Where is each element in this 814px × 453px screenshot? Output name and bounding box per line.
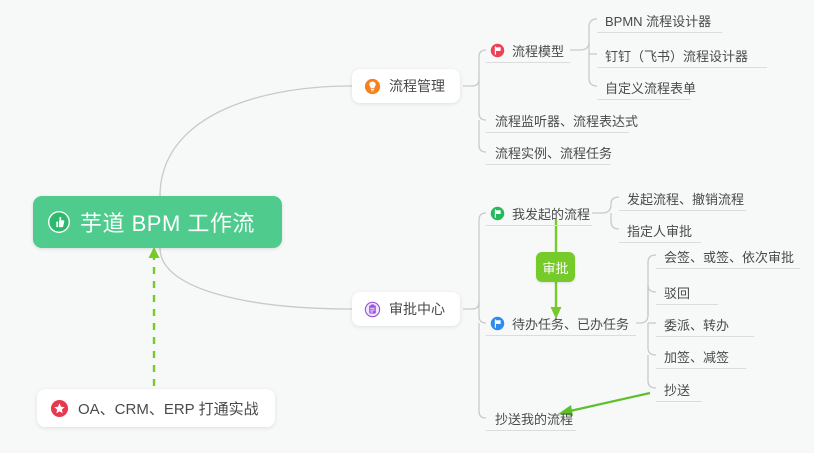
label-my-initiated: 我发起的流程 xyxy=(512,204,590,223)
leaf-add-remove-sign[interactable]: 加签、减签 xyxy=(658,344,737,368)
leaf-label-delegate-transfer: 委派、转办 xyxy=(664,315,729,334)
link-root-to-process-management xyxy=(160,86,352,196)
thumbs-up-icon xyxy=(47,210,71,234)
leaf-label-cc: 抄送 xyxy=(664,380,690,399)
underline-process-instance xyxy=(486,164,610,165)
leaf-assignee-approval[interactable]: 指定人审批 xyxy=(621,218,700,242)
underline-custom-form xyxy=(597,99,690,100)
underline-cc-to-me xyxy=(486,430,576,431)
label-cc-to-me: 抄送我的流程 xyxy=(495,409,573,428)
leaf-start-cancel-process[interactable]: 发起流程、撤销流程 xyxy=(621,186,752,210)
underline-add-remove-sign xyxy=(656,368,746,369)
clipboard-icon xyxy=(364,301,381,318)
underline-reject xyxy=(656,304,718,305)
leaf-label-bpmn-designer: BPMN 流程设计器 xyxy=(605,11,711,30)
mindmap-canvas: 芋道 BPM 工作流 流程管理 流程模型 BPMN 流程设计器 xyxy=(0,0,814,453)
link-pm-to-process-model xyxy=(463,50,486,86)
flag-icon-red xyxy=(490,43,505,58)
link-model-to-bpmn xyxy=(570,19,597,50)
underline-dingtalk-designer xyxy=(597,67,767,68)
node-process-model[interactable]: 流程模型 xyxy=(488,38,570,62)
node-process-listener[interactable]: 流程监听器、流程表达式 xyxy=(489,108,646,132)
link-ac-to-my-initiated xyxy=(463,213,486,309)
label-todo-done-tasks: 待办任务、已办任务 xyxy=(512,314,629,333)
link-root-to-approval-center xyxy=(160,248,352,309)
leaf-countersign[interactable]: 会签、或签、依次审批 xyxy=(658,244,802,268)
link-ac-to-todo xyxy=(479,302,486,323)
link-ac-to-cc xyxy=(479,323,486,418)
leaf-reject[interactable]: 驳回 xyxy=(658,280,698,304)
node-cc-to-me[interactable]: 抄送我的流程 xyxy=(489,406,581,430)
leaf-cc[interactable]: 抄送 xyxy=(658,377,698,401)
underline-process-listener xyxy=(486,132,629,133)
leaf-label-custom-form: 自定义流程表单 xyxy=(605,78,696,97)
node-process-instance[interactable]: 流程实例、流程任务 xyxy=(489,140,620,164)
label-process-listener: 流程监听器、流程表达式 xyxy=(495,111,638,130)
approve-badge: 审批 xyxy=(536,252,575,282)
underline-process-model xyxy=(486,62,570,63)
leaf-label-countersign: 会签、或签、依次审批 xyxy=(664,247,794,266)
bottom-card-integration[interactable]: OA、CRM、ERP 打通实战 xyxy=(37,389,275,427)
approve-badge-label: 审批 xyxy=(542,258,568,277)
root-node[interactable]: 芋道 BPM 工作流 xyxy=(33,196,282,248)
leaf-dingtalk-designer[interactable]: 钉钉（飞书）流程设计器 xyxy=(599,43,756,67)
link-pm-to-instance xyxy=(479,120,486,152)
link-model-to-form xyxy=(589,54,597,86)
underline-delegate-transfer xyxy=(656,336,754,337)
link-pm-to-listener xyxy=(479,86,486,120)
leaf-label-assignee-approval: 指定人审批 xyxy=(627,221,692,240)
link-todo-to-cc-item xyxy=(648,355,656,388)
link-todo-to-countersign xyxy=(636,255,656,323)
leaf-label-start-cancel-process: 发起流程、撤销流程 xyxy=(627,189,744,208)
branch-node-approval-center[interactable]: 审批中心 xyxy=(352,292,460,326)
label-process-model: 流程模型 xyxy=(512,41,564,60)
node-todo-done-tasks[interactable]: 待办任务、已办任务 xyxy=(488,311,635,335)
underline-todo-done-tasks xyxy=(486,335,636,336)
lightbulb-icon xyxy=(364,78,381,95)
flag-icon-green xyxy=(490,206,505,221)
underline-start-cancel-process xyxy=(619,210,746,211)
link-initiated-to-start xyxy=(592,197,619,213)
leaf-custom-form[interactable]: 自定义流程表单 xyxy=(599,75,704,99)
branch-label-process-management: 流程管理 xyxy=(389,76,445,96)
link-model-to-dingtalk xyxy=(589,42,597,54)
link-initiated-to-assignee xyxy=(611,213,619,229)
bottom-card-label: OA、CRM、ERP 打通实战 xyxy=(78,398,259,419)
link-bottom-card-to-root xyxy=(149,247,160,386)
star-icon xyxy=(50,399,69,418)
link-todo-to-addsign xyxy=(648,323,656,355)
leaf-bpmn-designer[interactable]: BPMN 流程设计器 xyxy=(599,8,719,32)
node-my-initiated[interactable]: 我发起的流程 xyxy=(488,201,596,225)
branch-label-approval-center: 审批中心 xyxy=(389,299,445,319)
underline-cc xyxy=(656,401,702,402)
leaf-label-reject: 驳回 xyxy=(664,283,690,302)
branch-node-process-management[interactable]: 流程管理 xyxy=(352,69,460,103)
underline-my-initiated xyxy=(486,225,592,226)
underline-countersign xyxy=(656,268,800,269)
root-label: 芋道 BPM 工作流 xyxy=(80,206,255,238)
link-todo-to-reject xyxy=(648,285,656,315)
label-process-instance: 流程实例、流程任务 xyxy=(495,143,612,162)
underline-assignee-approval xyxy=(619,242,701,243)
flag-icon-blue xyxy=(490,316,505,331)
leaf-delegate-transfer[interactable]: 委派、转办 xyxy=(658,312,737,336)
leaf-label-add-remove-sign: 加签、减签 xyxy=(664,347,729,366)
leaf-label-dingtalk-designer: 钉钉（飞书）流程设计器 xyxy=(605,46,748,65)
underline-bpmn-designer xyxy=(597,32,722,33)
